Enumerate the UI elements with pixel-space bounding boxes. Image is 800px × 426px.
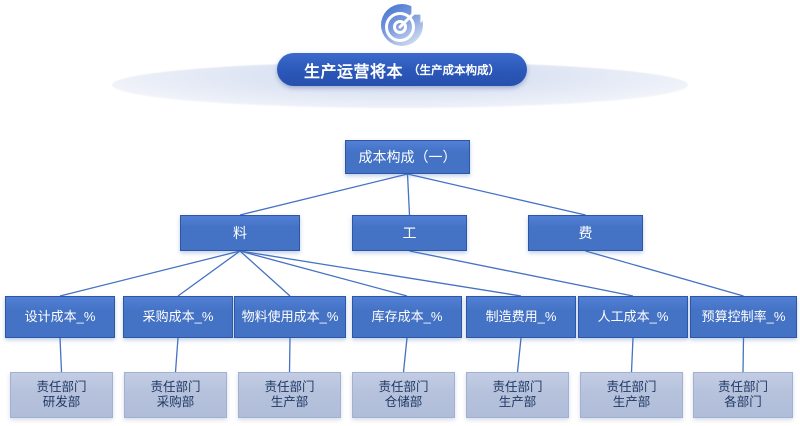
node-level3-5[interactable]: 人工成本_% [578,296,688,338]
node-leaf-6[interactable]: 责任部门各部门 [693,372,793,418]
node-label: 责任部门各部门 [715,380,771,410]
node-level3-6[interactable]: 预算控制率_% [690,296,797,338]
connector-line [632,338,634,372]
connector-line [743,338,744,372]
connector-line [240,251,290,296]
node-level3-1[interactable]: 采购成本_% [123,296,233,338]
connector-line [240,174,408,215]
node-leaf-2[interactable]: 责任部门生产部 [238,372,341,418]
node-label: 工 [400,225,420,242]
connector-line [60,338,62,372]
node-label: 责任部门生产部 [603,380,659,410]
connector-line [290,338,291,372]
connector-line [176,338,179,372]
node-level3-0[interactable]: 设计成本_% [5,296,115,338]
node-level3-2[interactable]: 物料使用成本_% [234,296,346,338]
node-label: 成本构成（一） [356,149,460,166]
node-label: 费 [576,225,596,242]
node-root[interactable]: 成本构成（一） [345,140,470,174]
node-label: 制造费用_% [483,309,560,324]
connector-line [408,174,586,215]
connector-line [518,338,522,372]
node-level3-3[interactable]: 库存成本_% [352,296,462,338]
connector-line [408,174,410,215]
node-label: 库存成本_% [369,309,446,324]
node-label: 责任部门生产部 [261,380,317,410]
node-leaf-0[interactable]: 责任部门研发部 [10,372,113,418]
node-label: 人工成本_% [595,309,672,324]
connector-line [410,251,634,296]
connector-line [178,251,240,296]
node-leaf-5[interactable]: 责任部门生产部 [580,372,683,418]
node-label: 设计成本_% [22,309,99,324]
node-label: 责任部门采购部 [147,380,203,410]
connector-line [586,251,744,296]
diagram-canvas: 生产运营将本 （生产成本构成） 成本构成（一）料工费设计成本_%采购成本_%物料… [0,0,800,426]
node-level2-2[interactable]: 费 [528,215,643,251]
connector-line [240,251,407,296]
node-leaf-3[interactable]: 责任部门仓储部 [352,372,455,418]
node-label: 责任部门仓储部 [375,380,431,410]
node-level2-0[interactable]: 料 [180,215,300,251]
node-level2-1[interactable]: 工 [352,215,467,251]
node-label: 料 [230,225,250,242]
org-tree: 成本构成（一）料工费设计成本_%采购成本_%物料使用成本_%库存成本_%制造费用… [0,0,800,426]
node-label: 责任部门生产部 [489,380,545,410]
node-leaf-4[interactable]: 责任部门生产部 [466,372,569,418]
node-level3-4[interactable]: 制造费用_% [466,296,576,338]
node-label: 物料使用成本_% [239,309,342,324]
node-label: 预算控制率_% [699,309,789,324]
connector-line [60,251,240,296]
connector-line [404,338,408,372]
node-label: 责任部门研发部 [33,380,89,410]
tree-connector-lines [0,0,800,426]
node-leaf-1[interactable]: 责任部门采购部 [124,372,227,418]
connector-line [240,251,521,296]
node-label: 采购成本_% [140,309,217,324]
